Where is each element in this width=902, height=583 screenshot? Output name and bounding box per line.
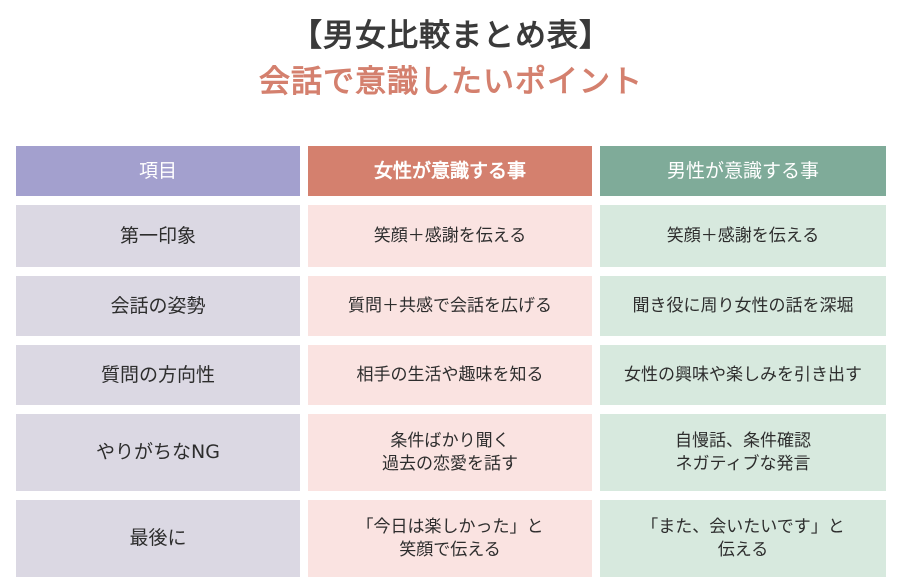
row-female-cell: 条件ばかり聞く 過去の恋愛を話す	[308, 414, 592, 491]
row-male-cell: 女性の興味や楽しみを引き出す	[600, 345, 886, 405]
row-male-cell: 「また、会いたいです」と 伝える	[600, 500, 886, 577]
row-female-cell: 「今日は楽しかった」と 笑顔で伝える	[308, 500, 592, 577]
table-row: 質問の方向性 相手の生活や趣味を知る 女性の興味や楽しみを引き出す	[16, 345, 886, 405]
row-female-cell: 相手の生活や趣味を知る	[308, 345, 592, 405]
header-cell-male: 男性が意識する事	[600, 146, 886, 196]
title-block: 【男女比較まとめ表】 会話で意識したいポイント	[0, 0, 902, 104]
row-male-cell: 自慢話、条件確認 ネガティブな発言	[600, 414, 886, 491]
row-label-cell: 会話の姿勢	[16, 276, 300, 336]
header-cell-female: 女性が意識する事	[308, 146, 592, 196]
header-cell-item: 項目	[16, 146, 300, 196]
row-label-cell: 質問の方向性	[16, 345, 300, 405]
table-row: 会話の姿勢 質問＋共感で会話を広げる 聞き役に周り女性の話を深堀	[16, 276, 886, 336]
table-row: やりがちなNG 条件ばかり聞く 過去の恋愛を話す 自慢話、条件確認 ネガティブな…	[16, 414, 886, 491]
table-row: 第一印象 笑顔＋感謝を伝える 笑顔＋感謝を伝える	[16, 205, 886, 267]
row-female-cell: 質問＋共感で会話を広げる	[308, 276, 592, 336]
row-male-cell: 笑顔＋感謝を伝える	[600, 205, 886, 267]
row-label-cell: 第一印象	[16, 205, 300, 267]
row-male-cell: 聞き役に周り女性の話を深堀	[600, 276, 886, 336]
row-label-cell: やりがちなNG	[16, 414, 300, 491]
row-female-cell: 笑顔＋感謝を伝える	[308, 205, 592, 267]
row-label-cell: 最後に	[16, 500, 300, 577]
page-subtitle: 会話で意識したいポイント	[0, 62, 902, 104]
comparison-table: 項目 女性が意識する事 男性が意識する事 第一印象 笑顔＋感謝を伝える 笑顔＋感…	[16, 146, 886, 577]
infographic-page: 【男女比較まとめ表】 会話で意識したいポイント 項目 女性が意識する事 男性が意…	[0, 0, 902, 583]
table-header-row: 項目 女性が意識する事 男性が意識する事	[16, 146, 886, 196]
table-row: 最後に 「今日は楽しかった」と 笑顔で伝える 「また、会いたいです」と 伝える	[16, 500, 886, 577]
page-title: 【男女比較まとめ表】	[0, 16, 902, 58]
